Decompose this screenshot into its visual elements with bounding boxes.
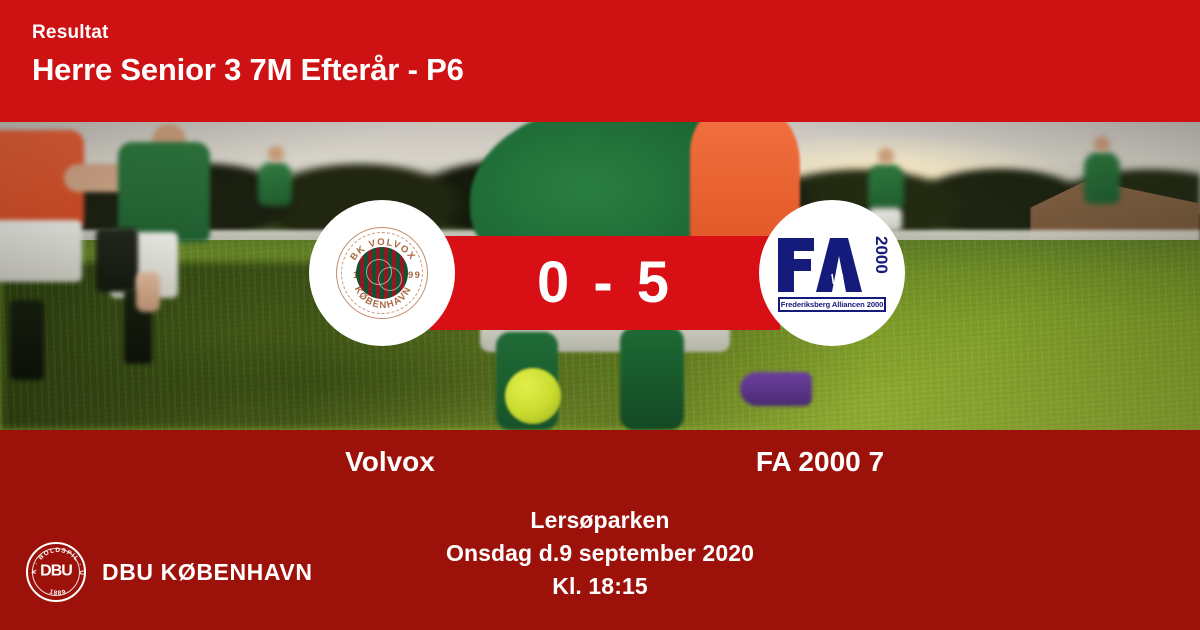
dbu-brand: DANSK · BOLDSPIL · UNION 1889 DBU DBU KØ… — [26, 542, 313, 602]
volvox-year-right: 99 — [408, 270, 421, 281]
fa-banner: Frederiksberg Alliancen 2000 — [778, 297, 886, 312]
header: Resultat Herre Senior 3 7M Efterår - P6 — [0, 0, 1200, 122]
match-venue: Lersøparken — [0, 504, 1200, 537]
fa-year-vertical: 2000 — [873, 236, 890, 274]
fa-2000-logo: 2000 Frederiksberg Alliancen 2000 — [774, 234, 890, 312]
svg-text:1889: 1889 — [48, 588, 67, 597]
score-band: 0 - 5 — [430, 236, 780, 330]
volvox-emblem-core — [356, 247, 408, 299]
home-team-crest: BK VOLVOX KØBENHAVN 19 99 — [309, 200, 455, 346]
away-team-name: FA 2000 7 — [610, 444, 1030, 480]
dbu-logo-icon: DANSK · BOLDSPIL · UNION 1889 DBU — [26, 542, 86, 602]
fa-banner-text: Frederiksberg Alliancen 2000 — [781, 301, 883, 309]
header-kicker: Resultat — [32, 22, 1200, 44]
page-title: Herre Senior 3 7M Efterår - P6 — [32, 50, 1200, 90]
result-card: Resultat Herre Senior 3 7M Efterår - P6 — [0, 0, 1200, 630]
away-team-crest: 2000 Frederiksberg Alliancen 2000 — [759, 200, 905, 346]
team-names-row: Volvox FA 2000 7 — [0, 430, 1200, 498]
bk-volvox-logo: BK VOLVOX KØBENHAVN 19 99 — [336, 227, 428, 319]
dbu-brand-name: DBU KØBENHAVN — [102, 558, 313, 586]
dbu-monogram: DBU — [40, 563, 72, 579]
dbu-year-text: 1889 — [48, 588, 67, 597]
home-team-name: Volvox — [180, 444, 600, 480]
score-value: 0 - 5 — [537, 254, 673, 312]
